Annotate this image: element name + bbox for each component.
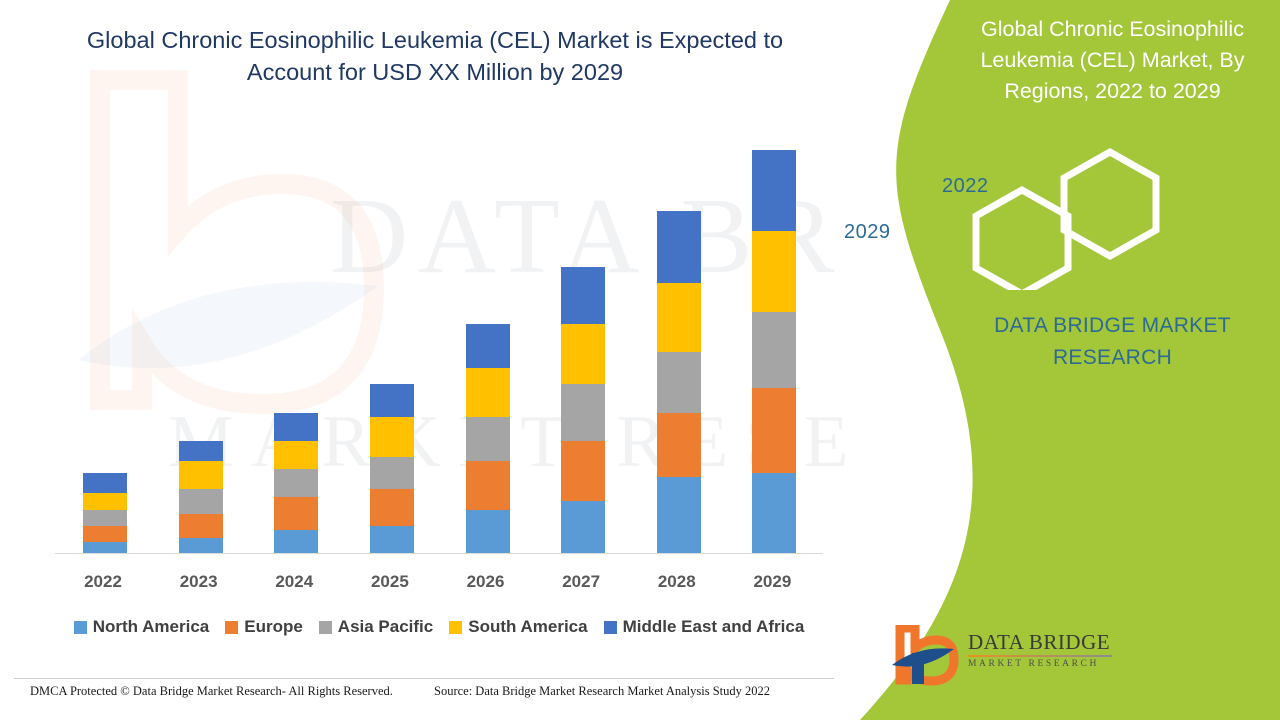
brand-panel: [820, 0, 1280, 720]
legend-swatch: [449, 621, 462, 634]
bar-segment[interactable]: [752, 388, 796, 473]
legend-swatch: [225, 621, 238, 634]
bar-segment[interactable]: [83, 493, 127, 509]
x-axis-label: 2023: [151, 572, 247, 592]
bar-segment[interactable]: [466, 417, 510, 461]
legend-item[interactable]: Asia Pacific: [319, 617, 433, 637]
bar-segment[interactable]: [83, 526, 127, 542]
stacked-bar[interactable]: [370, 384, 414, 554]
legend-item[interactable]: Middle East and Africa: [604, 617, 805, 637]
legend-item[interactable]: Europe: [225, 617, 303, 637]
bar-segment[interactable]: [466, 461, 510, 509]
bar-column: [246, 150, 342, 554]
bar-segment[interactable]: [657, 413, 701, 478]
bar-segment[interactable]: [83, 510, 127, 526]
legend-label: Middle East and Africa: [623, 617, 805, 637]
bar-segment[interactable]: [752, 312, 796, 389]
bar-segment[interactable]: [179, 461, 223, 489]
stacked-bar[interactable]: [179, 441, 223, 554]
bar-column: [342, 150, 438, 554]
legend-swatch: [319, 621, 332, 634]
bar-segment[interactable]: [561, 267, 605, 324]
x-axis-label: 2028: [629, 572, 725, 592]
copyright-notice: DMCA Protected © Data Bridge Market Rese…: [30, 684, 393, 699]
bar-segment[interactable]: [752, 150, 796, 231]
bar-column: [533, 150, 629, 554]
bar-segment[interactable]: [370, 384, 414, 416]
bar-segment[interactable]: [657, 477, 701, 554]
legend-label: North America: [93, 617, 210, 637]
bar-segment[interactable]: [274, 530, 318, 554]
stacked-bar[interactable]: [561, 267, 605, 554]
legend-swatch: [74, 621, 87, 634]
legend-swatch: [604, 621, 617, 634]
logo-title: DATA BRIDGE: [968, 630, 1118, 654]
legend-label: Europe: [244, 617, 303, 637]
logo-wordmark: DATA BRIDGE MARKET RESEARCH: [968, 630, 1118, 669]
bar-segment[interactable]: [179, 538, 223, 554]
stacked-bar[interactable]: [466, 324, 510, 554]
bar-segment[interactable]: [752, 473, 796, 554]
bar-segment[interactable]: [657, 352, 701, 413]
bar-column: [629, 150, 725, 554]
bar-segment[interactable]: [274, 413, 318, 441]
x-axis-label: 2029: [724, 572, 820, 592]
x-axis-tick-labels: 20222023202420252026202720282029: [55, 572, 823, 596]
data-bridge-b-logo-icon: [890, 625, 966, 687]
infographic-slide: DATA BRIDGE MARKET RESEARCH Global Chron…: [0, 0, 1280, 720]
bar-segment[interactable]: [752, 231, 796, 312]
bar-segment[interactable]: [179, 489, 223, 513]
bar-segment[interactable]: [561, 501, 605, 554]
bar-segment[interactable]: [657, 283, 701, 352]
bar-column: [55, 150, 151, 554]
bar-column: [438, 150, 534, 554]
x-axis-line: [55, 553, 823, 554]
x-axis-label: 2027: [533, 572, 629, 592]
bar-segment[interactable]: [274, 469, 318, 497]
page-title: Global Chronic Eosinophilic Leukemia (CE…: [55, 24, 815, 88]
bar-segment[interactable]: [370, 489, 414, 525]
brand-panel-shape: [820, 0, 1280, 720]
bar-segment[interactable]: [657, 211, 701, 284]
bar-segment[interactable]: [466, 368, 510, 416]
chart-legend: North AmericaEuropeAsia PacificSouth Ame…: [55, 617, 823, 637]
bar-segment[interactable]: [370, 457, 414, 489]
x-axis-label: 2024: [246, 572, 342, 592]
bar-segment[interactable]: [466, 510, 510, 554]
bar-column: [151, 150, 247, 554]
bar-segment[interactable]: [179, 441, 223, 461]
bar-segment[interactable]: [561, 384, 605, 441]
x-axis-label: 2022: [55, 572, 151, 592]
legend-item[interactable]: South America: [449, 617, 587, 637]
legend-item[interactable]: North America: [74, 617, 210, 637]
bar-segment[interactable]: [561, 441, 605, 502]
bar-segment[interactable]: [561, 324, 605, 385]
bar-segment[interactable]: [83, 473, 127, 493]
bar-segment[interactable]: [274, 441, 318, 469]
bar-segment[interactable]: [370, 417, 414, 457]
bar-segment[interactable]: [274, 497, 318, 529]
bar-column: [724, 150, 820, 554]
footer-divider: [14, 678, 834, 679]
x-axis-label: 2025: [342, 572, 438, 592]
data-bridge-logo: DATA BRIDGE MARKET RESEARCH: [890, 625, 1115, 687]
logo-divider: [968, 655, 1112, 657]
stacked-bar-chart: [55, 150, 820, 554]
stacked-bar[interactable]: [83, 473, 127, 554]
source-note: Source: Data Bridge Market Research Mark…: [434, 684, 770, 699]
x-axis-label: 2026: [438, 572, 534, 592]
stacked-bar[interactable]: [752, 150, 796, 554]
legend-label: Asia Pacific: [338, 617, 433, 637]
bar-segment[interactable]: [370, 526, 414, 554]
logo-subtitle: MARKET RESEARCH: [968, 659, 1118, 669]
legend-label: South America: [468, 617, 587, 637]
bar-segment[interactable]: [466, 324, 510, 368]
stacked-bar[interactable]: [274, 413, 318, 554]
stacked-bar[interactable]: [657, 211, 701, 554]
bar-segment[interactable]: [179, 514, 223, 538]
